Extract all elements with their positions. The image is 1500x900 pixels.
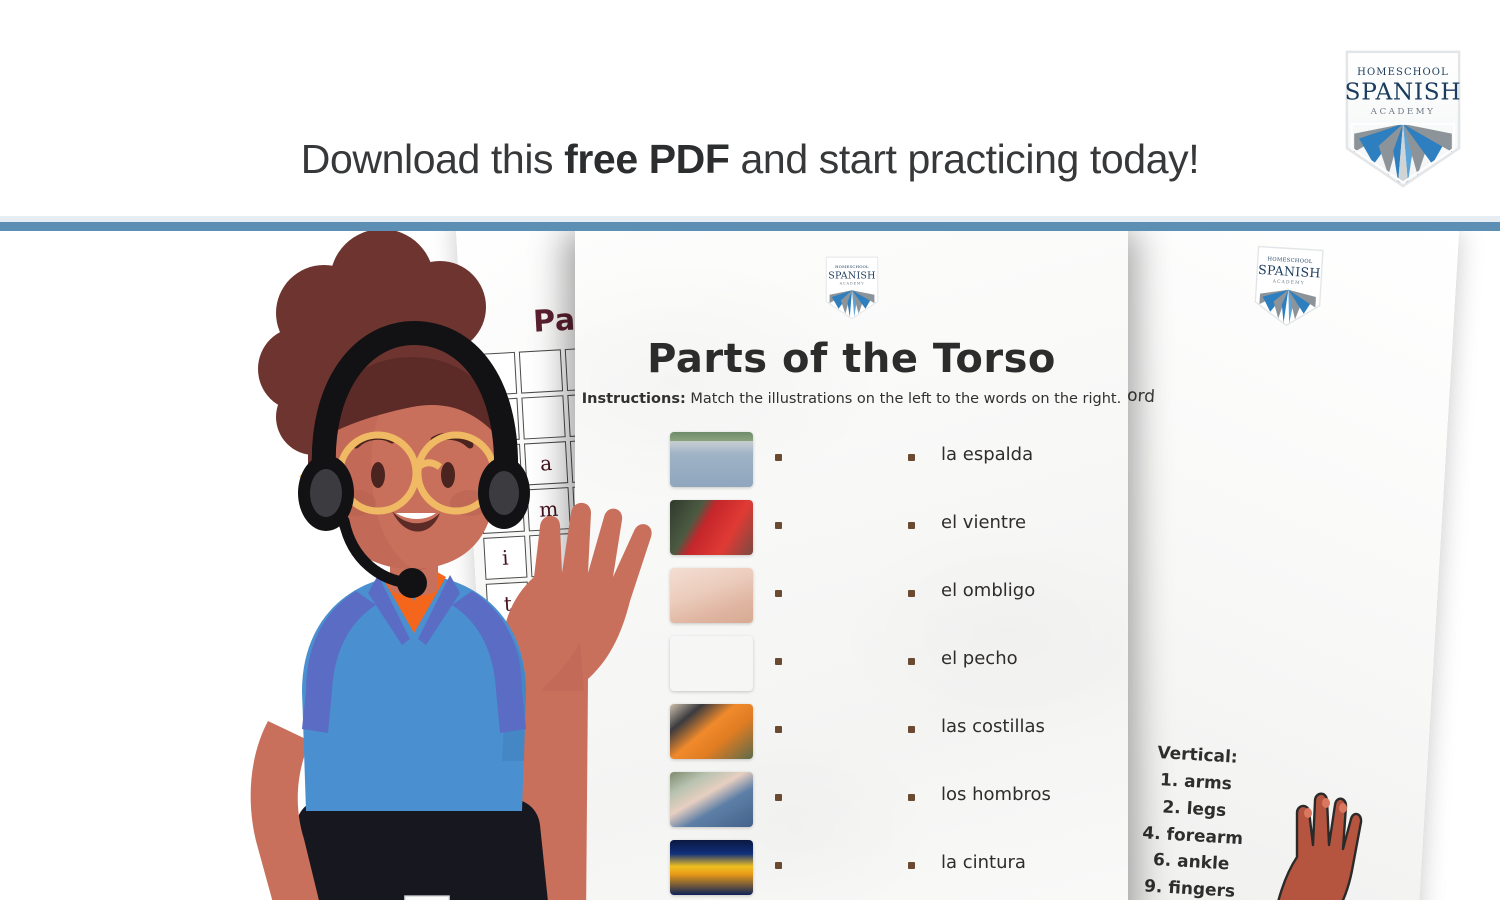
headline-text-bold: free PDF [564,136,729,182]
worksheets-showcase: Pa jeaeumeieutsgoltyaitua HOMESCHOOL SPA… [0,231,1500,900]
headline: Download this free PDF and start practic… [0,136,1500,183]
match-dot-left[interactable] [775,454,782,461]
spanish-word: el ombligo [941,580,1035,601]
spanish-word: la espalda [941,444,1033,465]
match-dot-left[interactable] [775,862,782,869]
svg-text:HOMESCHOOL: HOMESCHOOL [835,264,869,269]
match-dot-right[interactable] [908,658,915,665]
headline-text-lead: Download this [301,136,564,182]
instructions-text: Match the illustrations on the left to t… [686,391,1121,407]
match-dot-left[interactable] [775,522,782,529]
svg-text:SPANISH: SPANISH [828,270,875,281]
hsa-logo-header: HOMESCHOOL SPANISH ACADEMY [1342,48,1464,190]
svg-text:SPANISH: SPANISH [1345,78,1462,105]
hsa-logo-crossword-sheet: HOMESCHOOL SPANISH ACADEMY [1251,243,1326,331]
screenshot-root: Download this free PDF and start practic… [0,0,1500,900]
hsa-logo-main-sheet: HOMESCHOOL SPANISH ACADEMY [824,255,880,321]
spanish-word: el vientre [941,512,1026,533]
section-divider [0,222,1500,231]
match-dot-right[interactable] [908,454,915,461]
svg-text:ACADEMY: ACADEMY [838,282,864,286]
headline-text-tail: and start practicing today! [730,136,1200,182]
match-dot-right[interactable] [908,862,915,869]
svg-text:HOMESCHOOL: HOMESCHOOL [1357,67,1449,78]
match-dot-left[interactable] [775,794,782,801]
match-dot-right[interactable] [908,590,915,597]
spanish-word: las costillas [941,716,1045,737]
match-dot-right[interactable] [908,726,915,733]
spanish-word: la cintura [941,852,1026,873]
spanish-teacher-illustration [110,231,710,900]
spanish-word: los hombros [941,784,1051,805]
match-dot-left[interactable] [775,658,782,665]
match-dot-left[interactable] [775,726,782,733]
hsa-logo-polo-badge: HOMESCHOOL SPANISH ACADEMY [403,894,451,900]
svg-text:ACADEMY: ACADEMY [1370,107,1436,117]
match-dot-right[interactable] [908,794,915,801]
match-dot-right[interactable] [908,522,915,529]
spanish-word: el pecho [941,648,1018,669]
header-banner: Download this free PDF and start practic… [0,0,1500,222]
match-dot-left[interactable] [775,590,782,597]
